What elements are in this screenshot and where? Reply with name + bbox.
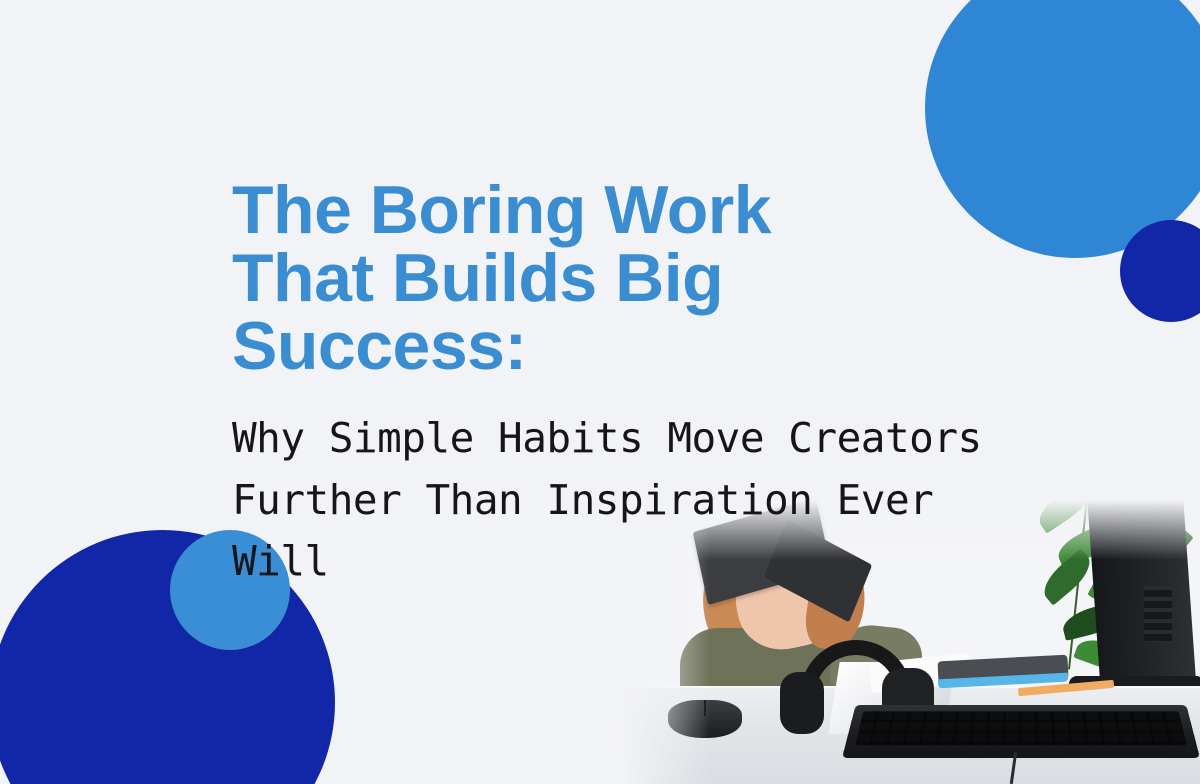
poster-canvas: The Boring Work That Builds Big Success:… <box>0 0 1200 784</box>
headphones-cup-left <box>780 672 824 734</box>
monitor-vents <box>1144 586 1172 642</box>
text-block: The Boring Work That Builds Big Success:… <box>232 176 992 593</box>
page-title: The Boring Work That Builds Big Success: <box>232 176 992 380</box>
page-subtitle: Why Simple Habits Move Creators Further … <box>232 408 992 593</box>
keyboard-keys <box>855 711 1187 745</box>
keyboard-icon <box>842 705 1200 758</box>
